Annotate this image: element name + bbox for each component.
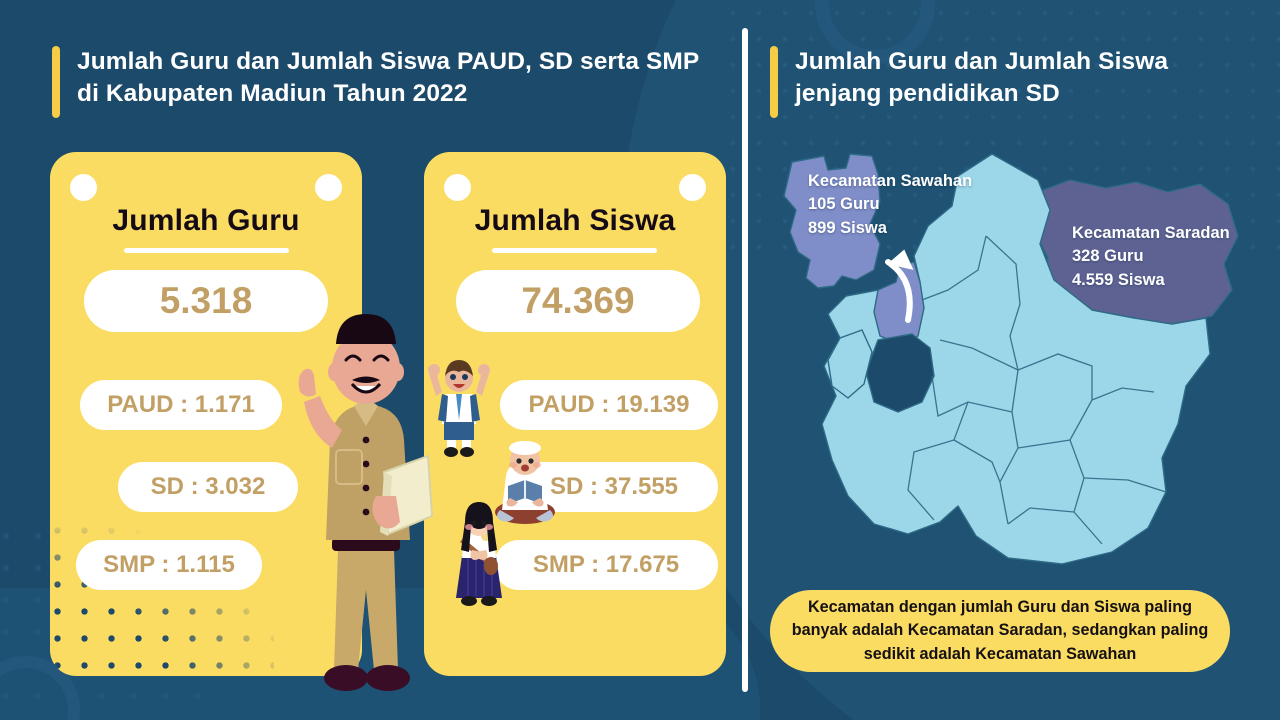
siswa-paud-value: PAUD : 19.139 [500, 380, 718, 430]
siswa-smp-value: SMP : 17.675 [494, 540, 718, 590]
punch-hole-left-icon [70, 174, 97, 201]
map-label-saradan: Kecamatan Saradan 328 Guru 4.559 Siswa [1072, 222, 1272, 292]
total-siswa-value: 74.369 [456, 270, 700, 332]
left-heading-text: Jumlah Guru dan Jumlah Siswa PAUD, SD se… [77, 46, 717, 110]
card-title-guru: Jumlah Guru [50, 204, 362, 238]
girl-student-illustration [450, 500, 508, 610]
sawahan-teachers: 105 Guru [808, 193, 1028, 216]
cheering-boy-student-illustration [428, 358, 490, 458]
punch-hole-right-icon [679, 174, 706, 201]
card-title-underline [492, 248, 657, 253]
sawahan-students: 899 Siswa [808, 217, 1028, 240]
card-title-underline [124, 248, 289, 253]
punch-hole-right-icon [315, 174, 342, 201]
saradan-name: Kecamatan Saradan [1072, 222, 1272, 245]
card-title-siswa: Jumlah Siswa [424, 204, 726, 238]
map-label-sawahan: Kecamatan Sawahan 105 Guru 899 Siswa [808, 170, 1028, 240]
heading-accent-bar [52, 46, 60, 118]
guru-smp-value: SMP : 1.115 [76, 540, 262, 590]
right-heading-text: Jumlah Guru dan Jumlah Siswa jenjang pen… [795, 46, 1235, 110]
guru-paud-value: PAUD : 1.171 [80, 380, 282, 430]
left-panel: Jumlah Guru dan Jumlah Siswa PAUD, SD se… [0, 0, 745, 720]
heading-accent-bar [770, 46, 778, 118]
saradan-teachers: 328 Guru [1072, 245, 1272, 268]
summary-note-box: Kecamatan dengan jumlah Guru dan Siswa p… [770, 590, 1230, 672]
summary-note-text: Kecamatan dengan jumlah Guru dan Siswa p… [788, 596, 1212, 666]
saradan-students: 4.559 Siswa [1072, 269, 1272, 292]
left-panel-heading: Jumlah Guru dan Jumlah Siswa PAUD, SD se… [52, 46, 717, 118]
sawahan-name: Kecamatan Sawahan [808, 170, 1028, 193]
right-panel-heading: Jumlah Guru dan Jumlah Siswa jenjang pen… [770, 46, 1235, 118]
punch-hole-left-icon [444, 174, 471, 201]
